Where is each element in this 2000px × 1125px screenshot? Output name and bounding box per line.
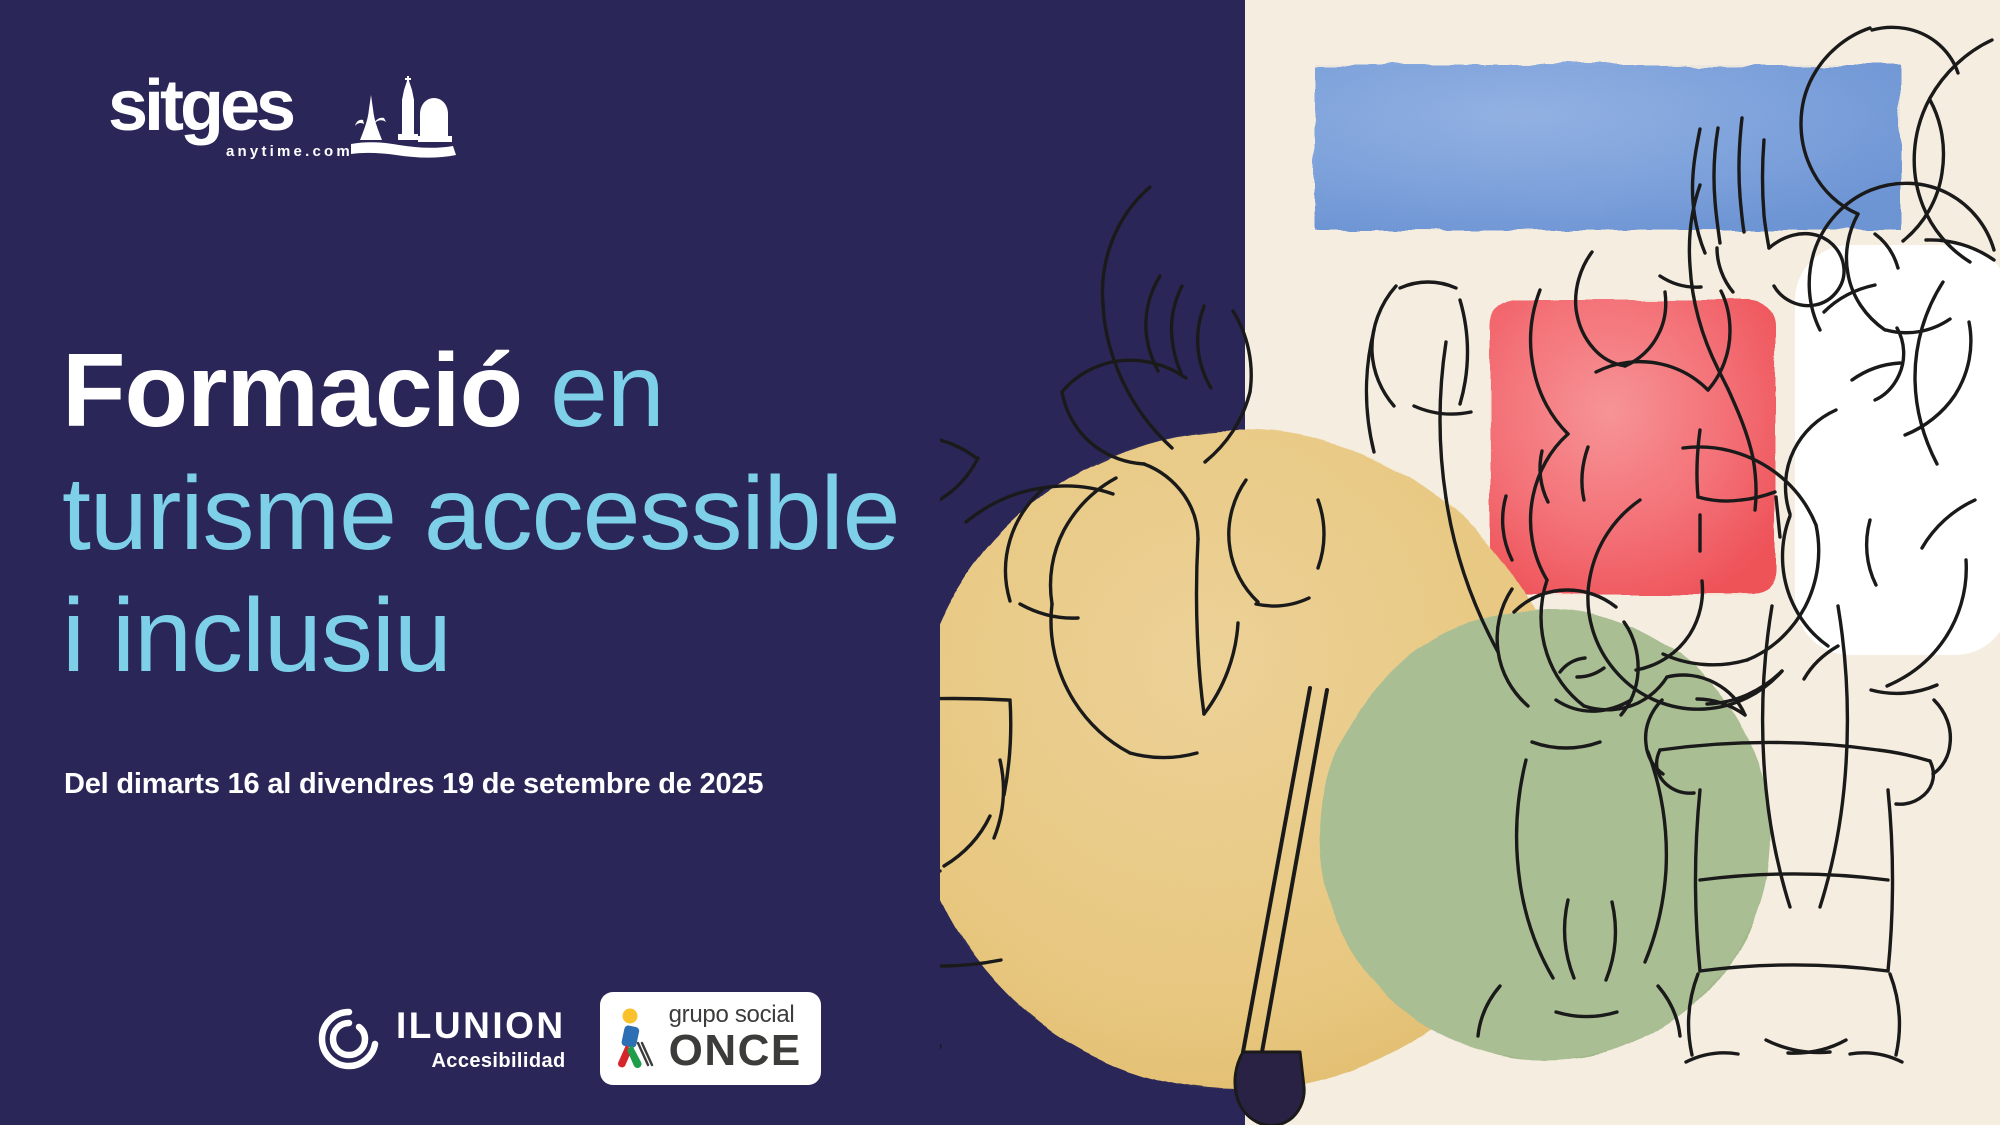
once-name: ONCE bbox=[669, 1029, 802, 1073]
headline-line-1: Formació en bbox=[62, 330, 1162, 453]
sponsor-logos: ILUNION Accesibilidad grupo social ONCE bbox=[318, 992, 821, 1085]
white-rounded-panel bbox=[1795, 245, 2000, 655]
headline-line-1-rest: en bbox=[522, 333, 664, 449]
once-top-line: grupo social bbox=[669, 1003, 802, 1027]
ilunion-name: ILUNION bbox=[396, 1007, 566, 1044]
event-dates: Del dimarts 16 al divendres 19 de setemb… bbox=[64, 768, 763, 801]
sitges-tagline: anytime.com bbox=[226, 143, 353, 160]
ilunion-subtitle: Accesibilidad bbox=[431, 1051, 565, 1071]
headline-line-2: turisme accessible bbox=[62, 453, 1162, 576]
once-logo[interactable]: grupo social ONCE bbox=[600, 992, 821, 1085]
page-title: Formació en turisme accessible i inclusi… bbox=[62, 330, 1162, 698]
once-figure-cane-icon bbox=[614, 1007, 656, 1069]
ilunion-logo[interactable]: ILUNION Accesibilidad bbox=[318, 1007, 566, 1071]
sitges-logo[interactable]: sitges anytime.com bbox=[108, 68, 458, 163]
headline-line-3: i inclusiu bbox=[62, 575, 1162, 698]
ilunion-swirl-icon bbox=[318, 1008, 380, 1070]
promo-banner: sitges anytime.com bbox=[0, 0, 2000, 1125]
church-palm-silhouette-icon bbox=[351, 76, 456, 158]
sitges-wordmark: sitges bbox=[108, 68, 294, 146]
headline-emphasis: Formació bbox=[62, 333, 522, 449]
